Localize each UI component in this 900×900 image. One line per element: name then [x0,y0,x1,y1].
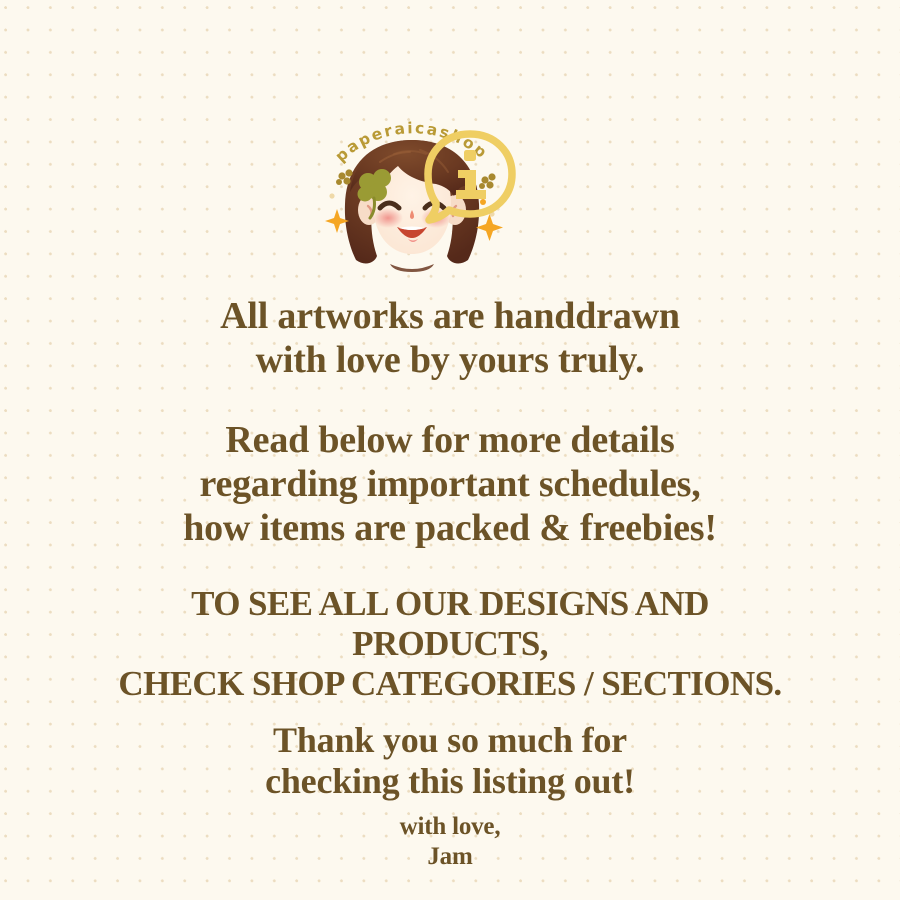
gold-clover-left-icon [336,169,353,185]
message-line: how items are packed & freebies! [50,506,850,550]
message-block-categories: TO SEE ALL OUR DESIGNS AND PRODUCTS, CHE… [20,584,880,704]
info-card: paperaicashop [0,0,900,900]
signature-line: with love, [150,812,750,842]
dot-sparkle-icon [329,193,334,198]
signature: with love, Jam [150,812,750,872]
message-line: PRODUCTS, [20,624,880,664]
message-block-handdrawn: All artworks are handdrawn with love by … [70,294,830,382]
message-block-read-below: Read below for more details regarding im… [50,418,850,550]
message-line: checking this listing out! [70,761,830,802]
signature-name: Jam [150,842,750,872]
message-block-thank-you: Thank you so much for checking this list… [70,720,830,802]
message-line: All artworks are handdrawn [70,294,830,338]
message-line: TO SEE ALL OUR DESIGNS AND [20,584,880,624]
message-line: Read below for more details [50,418,850,462]
message-line: regarding important schedules, [50,462,850,506]
header: paperaicashop [300,112,600,272]
message-line: CHECK SHOP CATEGORIES / SECTIONS. [20,664,880,704]
info-icon[interactable]: i [422,126,518,226]
brand-mark: paperaicashop [312,114,512,272]
message-line: with love by yours truly. [70,338,830,382]
collar-icon [390,264,434,272]
message-line: Thank you so much for [70,720,830,761]
